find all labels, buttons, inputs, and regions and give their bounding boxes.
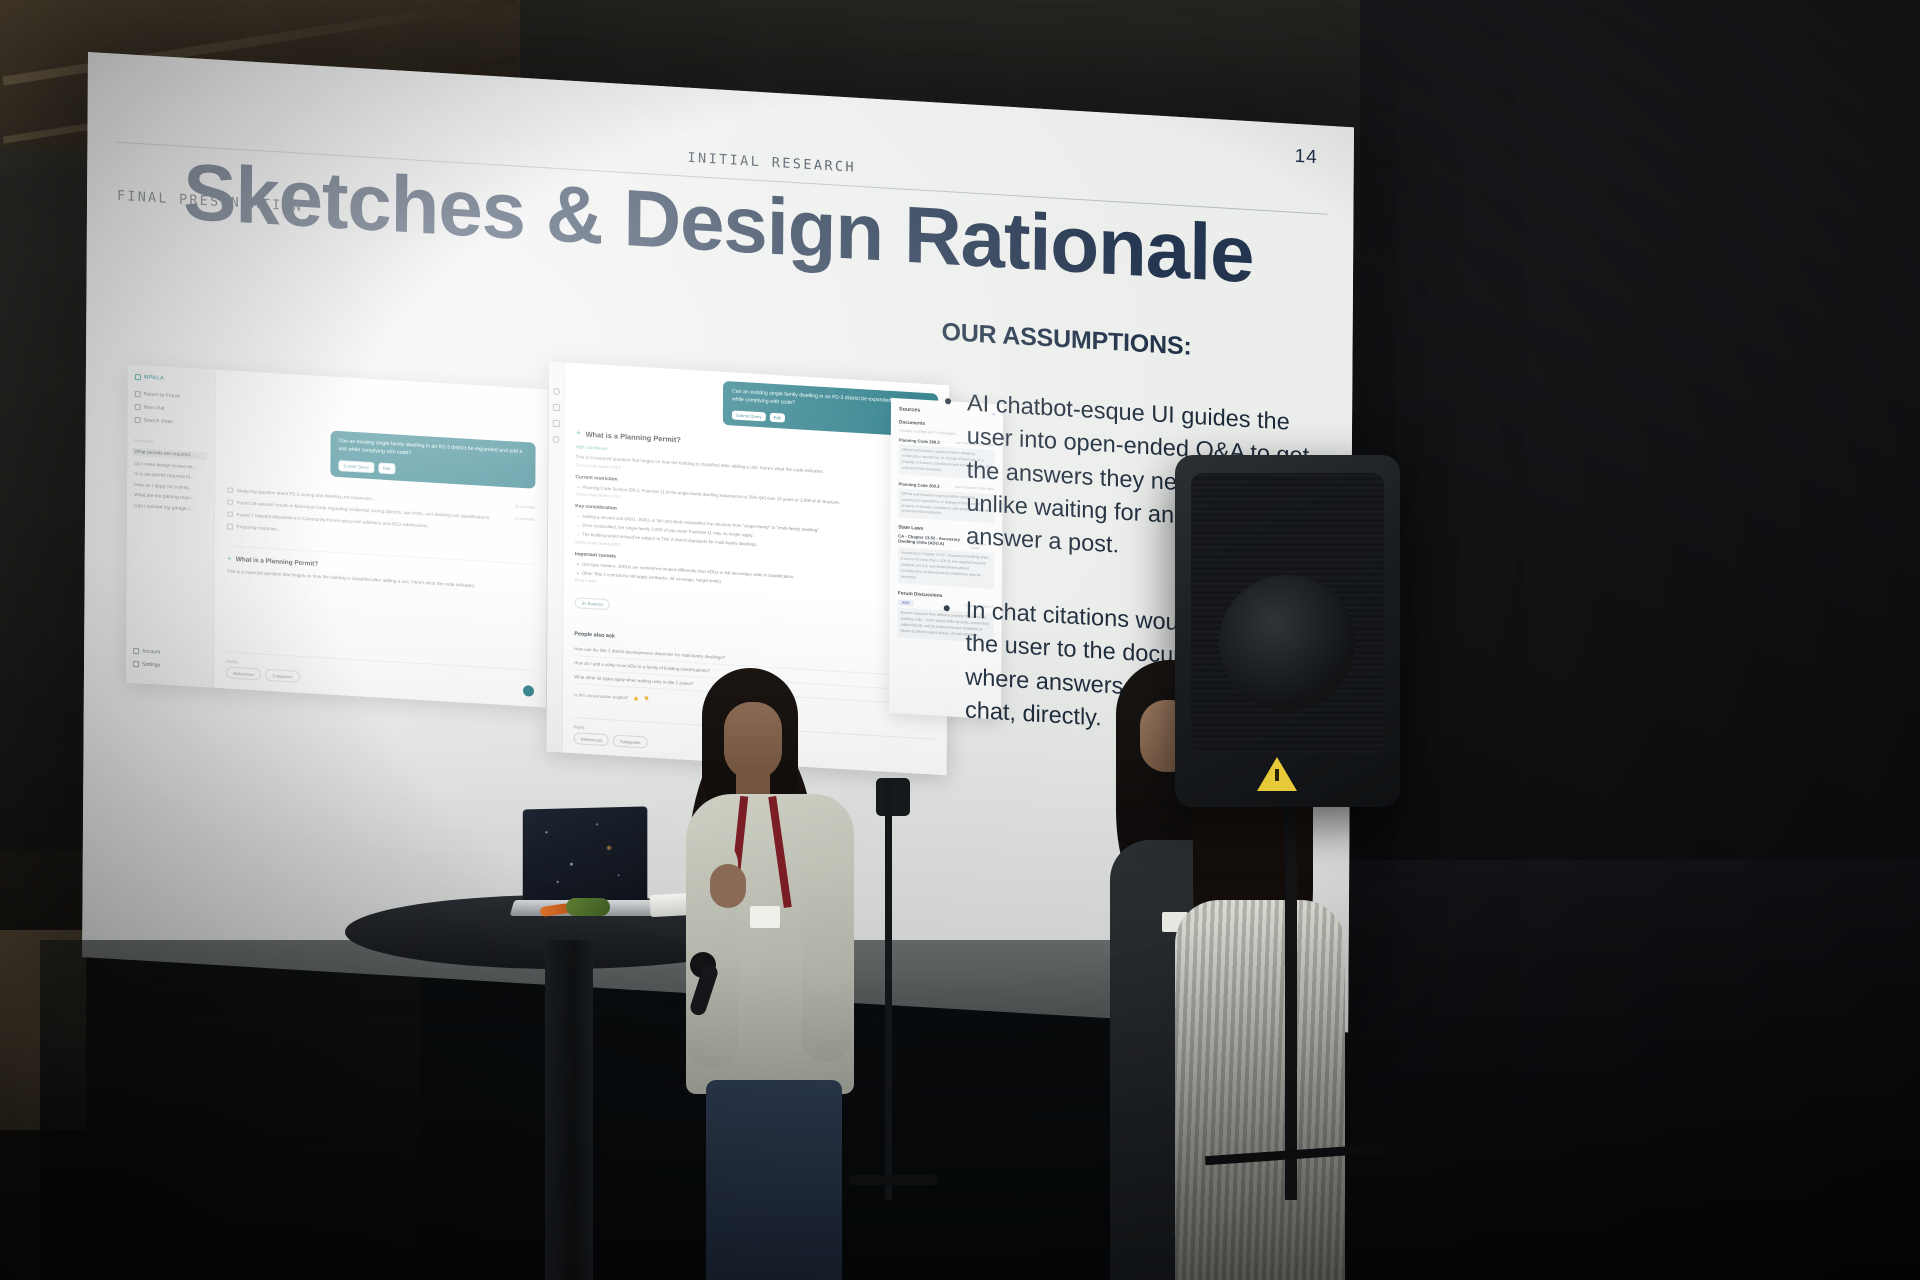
user-message-bubble: Can an existing single family dwelling i… — [330, 431, 535, 489]
sidebar-item-settings[interactable]: Settings — [133, 661, 206, 671]
answer-title: What is a Planning Permit? — [236, 556, 318, 568]
step-time: 12 seconds — [515, 515, 536, 523]
speaker-stand-pole — [1285, 800, 1297, 1200]
pa-speaker — [1175, 455, 1400, 807]
gear-icon — [133, 661, 139, 667]
thumbs-down-icon[interactable]: 👎 — [644, 696, 650, 702]
check-icon — [227, 487, 233, 493]
sidebar-item-account[interactable]: Account — [133, 648, 206, 658]
brand-label: MPALA — [144, 374, 164, 381]
assumptions-heading: OUR ASSUMPTIONS: — [941, 318, 1311, 369]
check-icon — [227, 511, 233, 517]
laptop-wallpaper — [526, 811, 643, 904]
more-icon[interactable] — [553, 436, 560, 443]
recent-item[interactable]: What permits are required... — [132, 448, 207, 460]
submit-query-button[interactable]: Submit Query — [338, 460, 374, 473]
name-badge — [750, 906, 780, 928]
sparkle-icon: ✦ — [576, 429, 582, 437]
source-tag: ADU — [898, 599, 914, 606]
sidebar-item-new-chat[interactable]: New chat — [135, 404, 208, 414]
page-number: 14 — [1295, 146, 1318, 169]
mockup-one-chat: Can an existing single family dwelling i… — [214, 370, 548, 708]
mic-stand-pole — [885, 780, 892, 1200]
spinner-icon — [227, 523, 233, 529]
logo-icon — [135, 374, 141, 380]
greens-prop — [566, 898, 610, 916]
categories-chip[interactable]: Categories — [265, 669, 299, 683]
mockup-one-sidebar: MPALA Return to Forum New chat Search ch… — [126, 364, 216, 687]
composer: Reply... References Categories — [226, 652, 534, 697]
sources-button[interactable]: 3+ Sources — [575, 597, 610, 610]
answer-title: What is a Planning Permit? — [586, 429, 681, 444]
sources-title: Sources — [899, 406, 920, 413]
stage-shadow — [40, 940, 1240, 1280]
answer-block: ✦ What is a Planning Permit? High Confid… — [574, 429, 937, 643]
presenter-face — [724, 702, 782, 780]
mic-stand-base — [848, 1175, 938, 1185]
sparkle-icon: ✦ — [227, 555, 232, 562]
sidebar-footer: Account Settings — [133, 648, 206, 678]
question-text: What other lot types apply when adding u… — [574, 674, 693, 686]
thumbs-up-icon[interactable]: 👍 — [633, 695, 639, 701]
search-icon — [135, 417, 141, 423]
mic-stand-head — [876, 778, 910, 816]
kicker-initial-research: INITIAL RESEARCH — [687, 150, 856, 176]
plus-icon — [135, 404, 141, 410]
pa-speaker-driver — [1219, 575, 1355, 711]
edit-button[interactable]: Edit — [769, 412, 784, 422]
recent-item[interactable]: Do I need design review an... — [134, 461, 207, 470]
sidebar-item-label: Search chats — [144, 417, 173, 425]
send-button[interactable] — [523, 685, 534, 697]
recent-item[interactable]: How do I apply for a temp... — [134, 482, 207, 491]
warning-triangle-icon — [1257, 757, 1297, 791]
presenter-hand — [710, 864, 746, 908]
slide-title: Sketches & Design Rationale — [183, 154, 1343, 299]
laptop-screen — [523, 806, 648, 907]
step-text: Preparing response... — [237, 523, 281, 533]
mockup-one: MPALA Return to Forum New chat Search ch… — [126, 364, 548, 707]
sidebar-item-return-to-forum[interactable]: Return to Forum — [135, 391, 208, 401]
step-time: 20 seconds — [515, 503, 536, 511]
source-title: Planning Code 209.3 — [898, 481, 939, 488]
podium-leg — [545, 940, 593, 1280]
references-chip[interactable]: References — [574, 732, 609, 746]
presenter-speaking — [680, 668, 860, 1280]
source-title: Planning Code 209.2 — [899, 437, 940, 444]
home-icon[interactable] — [553, 404, 560, 411]
recent-item[interactable]: Is a use permit required fo... — [134, 472, 207, 481]
submit-query-button[interactable]: Submit Query — [732, 410, 766, 421]
sidebar-item-label: Settings — [142, 661, 160, 668]
chat-icon[interactable] — [553, 420, 560, 427]
clock-icon[interactable] — [553, 388, 560, 395]
teammate-two-shirt-shading — [1175, 900, 1345, 1280]
recents-label: Recents — [134, 438, 207, 447]
answer-card: ✦ What is a Planning Permit? This is a n… — [227, 545, 535, 593]
account-icon — [133, 648, 139, 654]
helpful-label: Is this conversation helpful? — [574, 692, 628, 700]
app-brand: MPALA — [135, 374, 208, 384]
sidebar-item-label: Account — [142, 648, 160, 655]
progress-steps: Analyzing question about R2-3 zoning and… — [227, 486, 535, 553]
recent-item[interactable]: What are the parking requi... — [134, 493, 207, 502]
sidebar-item-label: Return to Forum — [144, 391, 180, 399]
sidebar-item-search-chats[interactable]: Search chats — [135, 417, 208, 427]
presenter-jeans — [706, 1080, 842, 1280]
check-icon — [227, 499, 233, 505]
presenter-arm-left — [802, 844, 852, 1062]
sidebar-item-label: New chat — [144, 404, 165, 411]
categories-chip[interactable]: Categories — [613, 735, 647, 749]
edit-button[interactable]: Edit — [378, 462, 395, 474]
recent-item[interactable]: Can I convert my garage i... — [134, 503, 207, 512]
references-chip[interactable]: References — [226, 667, 261, 681]
forum-icon — [135, 391, 141, 397]
